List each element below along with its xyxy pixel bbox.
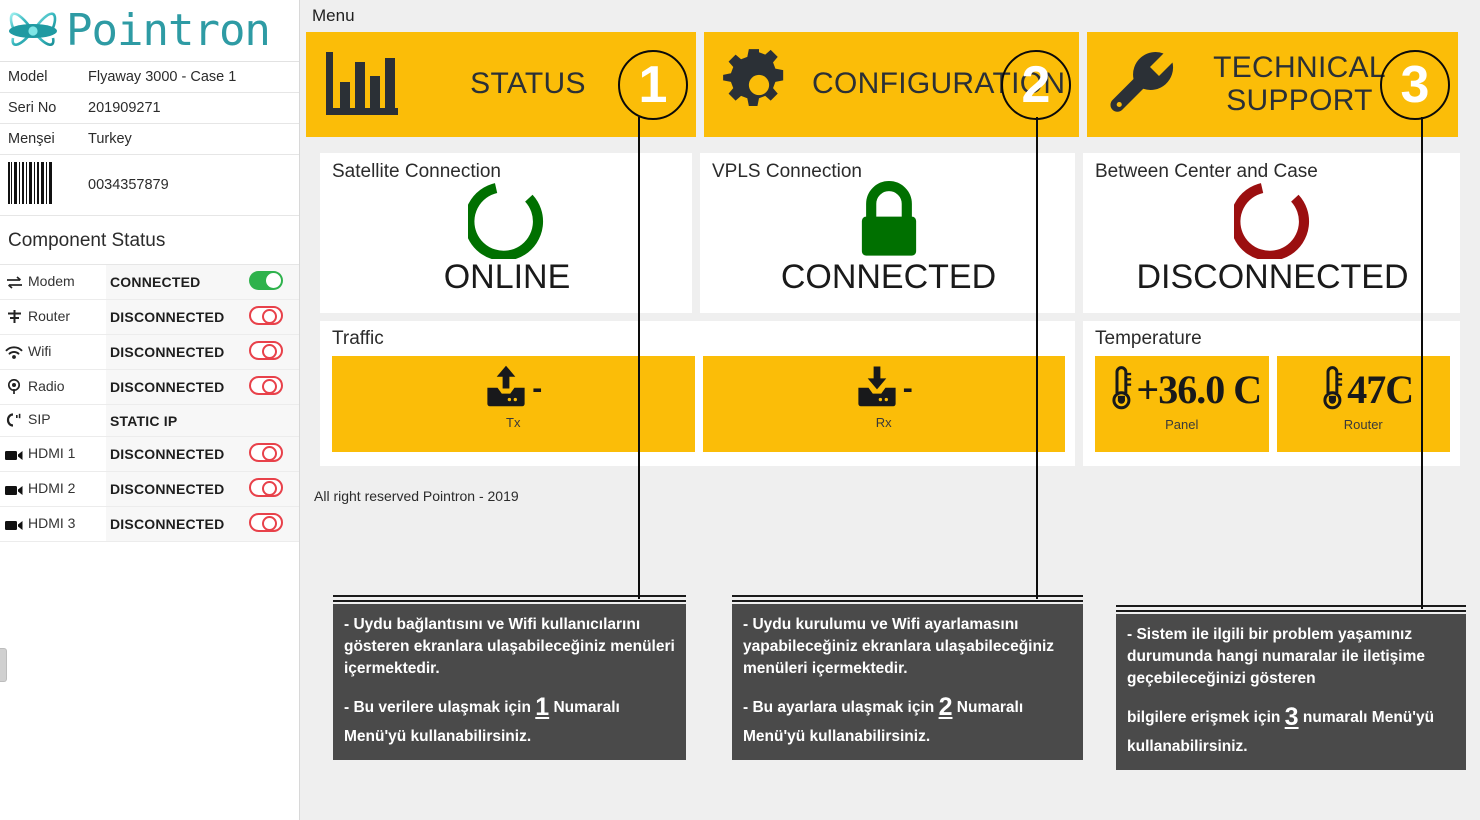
- lower-panels: Traffic -: [300, 313, 1480, 466]
- component-label: HDMI 1: [28, 445, 75, 461]
- toggle-switch-off[interactable]: [249, 478, 283, 497]
- callout-text-2: - Bu verilere ulaşmak için 1 Numaralı Me…: [344, 690, 675, 748]
- table-row: Wifi DISCONNECTED: [0, 335, 299, 370]
- component-state: CONNECTED: [106, 265, 245, 300]
- card-title: VPLS Connection: [712, 161, 1065, 183]
- callout-text-2: - Bu ayarlara ulaşmak için 2 Numaralı Me…: [743, 690, 1072, 748]
- tile-label: Router: [1344, 417, 1383, 432]
- card-vpls-connection: VPLS Connection CONNECTED: [700, 153, 1075, 313]
- callout-text-1: - Uydu bağlantısını ve Wifi kullanıcılar…: [344, 614, 675, 680]
- table-row: HDMI 3 DISCONNECTED: [0, 507, 299, 542]
- video-camera-icon: [4, 518, 24, 534]
- tile-label: Rx: [876, 415, 892, 430]
- callout-number: 2: [939, 693, 953, 721]
- component-name-cell: Router: [0, 300, 106, 335]
- table-row: Router DISCONNECTED: [0, 300, 299, 335]
- lock-icon: [854, 181, 924, 264]
- callout-text-1: - Uydu kurulumu ve Wifi ayarlamasını yap…: [743, 614, 1072, 680]
- spec-value: Flyaway 3000 - Case 1: [80, 62, 299, 93]
- component-toggle-empty: [245, 405, 299, 437]
- spec-value: 201909271: [80, 93, 299, 124]
- component-name-cell: HDMI 3: [0, 507, 106, 542]
- callout-number: 3: [1285, 703, 1299, 731]
- circle-notch-icon: [1234, 181, 1312, 264]
- tile-temp-panel: +36.0 C Panel: [1095, 356, 1269, 452]
- callout-number: 1: [535, 693, 549, 721]
- table-row: Menşei Turkey: [0, 124, 299, 155]
- toggle-switch-off[interactable]: [249, 341, 283, 360]
- component-label: HDMI 2: [28, 480, 75, 496]
- app-root: Pointron Model Flyaway 3000 - Case 1 Ser…: [0, 0, 1480, 820]
- wifi-icon: [4, 346, 24, 362]
- component-toggle[interactable]: [245, 472, 299, 507]
- table-row: Modem CONNECTED: [0, 265, 299, 300]
- download-icon: [855, 364, 899, 413]
- component-name-cell: HDMI 2: [0, 472, 106, 507]
- callout-3: - Sistem ile ilgili bir problem yaşamını…: [1116, 605, 1466, 770]
- component-name-cell: Modem: [0, 265, 106, 300]
- menu-badge: 1: [618, 50, 688, 120]
- connection-cards: Satellite Connection ONLINE VPLS Connect…: [300, 137, 1480, 313]
- toggle-switch-off[interactable]: [249, 306, 283, 325]
- toggle-switch-off[interactable]: [249, 443, 283, 462]
- thermometer-icon: [1102, 364, 1132, 415]
- card-satellite-connection: Satellite Connection ONLINE: [320, 153, 692, 313]
- panel-title: Temperature: [1095, 328, 1450, 350]
- tile-label: Panel: [1165, 417, 1198, 432]
- spec-key: Model: [0, 62, 80, 93]
- component-state: DISCONNECTED: [106, 507, 245, 542]
- component-state: DISCONNECTED: [106, 335, 245, 370]
- callout-box: - Sistem ile ilgili bir problem yaşamını…: [1116, 614, 1466, 770]
- component-label: SIP: [28, 411, 51, 427]
- menu-badge: 3: [1380, 50, 1450, 120]
- callout-box: - Uydu kurulumu ve Wifi ayarlamasını yap…: [732, 604, 1083, 760]
- panel-traffic: Traffic -: [320, 321, 1075, 466]
- bar-chart-icon: [322, 46, 414, 124]
- component-status-table: Modem CONNECTED Router DISCONNECTED: [0, 265, 299, 542]
- leader-line-1: [638, 117, 640, 599]
- video-camera-icon: [4, 483, 24, 499]
- tile-value: +36.0 C: [1136, 370, 1261, 410]
- barcode-value: 0034357879: [80, 155, 299, 216]
- component-state: DISCONNECTED: [106, 437, 245, 472]
- table-row: HDMI 1 DISCONNECTED: [0, 437, 299, 472]
- tile-value: -: [903, 374, 913, 404]
- brand-name: Pointron: [66, 9, 270, 53]
- component-label: Modem: [28, 273, 75, 289]
- card-status: CONNECTED: [781, 258, 996, 297]
- device-spec-table: Model Flyaway 3000 - Case 1 Seri No 2019…: [0, 62, 299, 216]
- panel-temperature: Temperature: [1083, 321, 1460, 466]
- component-toggle[interactable]: [245, 370, 299, 405]
- toggle-switch-off[interactable]: [249, 513, 283, 532]
- footer-copyright: All right reserved Pointron - 2019: [300, 466, 1480, 504]
- callout-text-2: bilgilere erişmek için 3 numaralı Menü'y…: [1127, 700, 1455, 758]
- phone-volume-icon: [4, 413, 24, 430]
- table-row: SIP STATIC IP: [0, 405, 299, 437]
- menu-button-technical-support[interactable]: TECHNICAL SUPPORT 3: [1087, 32, 1458, 137]
- component-name-cell: HDMI 1: [0, 437, 106, 472]
- barcode-icon: [0, 155, 80, 216]
- component-status-title: Component Status: [0, 216, 299, 265]
- menu-bar: STATUS 1 CONFIGURATION 2: [300, 32, 1480, 137]
- tile-rx: - Rx: [703, 356, 1066, 452]
- card-between-center-and-case: Between Center and Case DISCONNECTED: [1083, 153, 1460, 313]
- card-status: DISCONNECTED: [1136, 258, 1408, 297]
- leader-line-3: [1421, 117, 1423, 609]
- component-label: HDMI 3: [28, 515, 75, 531]
- exchange-arrows-icon: [4, 276, 24, 292]
- spec-key: Seri No: [0, 93, 80, 124]
- component-state: DISCONNECTED: [106, 370, 245, 405]
- component-toggle[interactable]: [245, 437, 299, 472]
- callout-cap: [1116, 605, 1466, 612]
- callout-box: - Uydu bağlantısını ve Wifi kullanıcılar…: [333, 604, 686, 760]
- component-state: DISCONNECTED: [106, 300, 245, 335]
- menu-label: Menu: [300, 0, 1480, 32]
- card-title: Satellite Connection: [332, 161, 682, 183]
- brand-logo: Pointron: [0, 0, 299, 62]
- panel-title: Traffic: [332, 328, 1065, 350]
- table-row: Radio DISCONNECTED: [0, 370, 299, 405]
- thermometer-icon: [1313, 364, 1343, 415]
- component-state: DISCONNECTED: [106, 472, 245, 507]
- leader-line-2: [1036, 117, 1038, 599]
- component-label: Router: [28, 308, 70, 324]
- component-name-cell: Wifi: [0, 335, 106, 370]
- menu-badge: 2: [1001, 50, 1071, 120]
- component-toggle[interactable]: [245, 300, 299, 335]
- component-name-cell: Radio: [0, 370, 106, 405]
- tile-temp-router: 47C Router: [1277, 356, 1451, 452]
- callout-cap: [333, 595, 686, 602]
- sidebar: Pointron Model Flyaway 3000 - Case 1 Ser…: [0, 0, 300, 820]
- table-row: HDMI 2 DISCONNECTED: [0, 472, 299, 507]
- callout-2: - Uydu kurulumu ve Wifi ayarlamasını yap…: [732, 595, 1083, 760]
- table-row: 0034357879: [0, 155, 299, 216]
- component-name-cell: SIP: [0, 405, 106, 437]
- tile-value: -: [532, 374, 542, 404]
- callout-text-1: - Sistem ile ilgili bir problem yaşamını…: [1127, 624, 1455, 690]
- table-row: Model Flyaway 3000 - Case 1: [0, 62, 299, 93]
- tile-tx: - Tx: [332, 356, 695, 452]
- video-camera-icon: [4, 448, 24, 464]
- callout-cap: [732, 595, 1083, 602]
- component-label: Radio: [28, 378, 65, 394]
- component-toggle[interactable]: [245, 265, 299, 300]
- toggle-switch-on[interactable]: [249, 271, 283, 290]
- card-status: ONLINE: [444, 258, 571, 297]
- tile-label: Tx: [506, 415, 520, 430]
- component-toggle[interactable]: [245, 507, 299, 542]
- spec-key: Menşei: [0, 124, 80, 155]
- spec-value: Turkey: [80, 124, 299, 155]
- circle-notch-icon: [468, 181, 546, 264]
- wrench-icon: [1103, 49, 1195, 121]
- toggle-switch-off[interactable]: [249, 376, 283, 395]
- menu-button-configuration[interactable]: CONFIGURATION 2: [704, 32, 1079, 137]
- component-toggle[interactable]: [245, 335, 299, 370]
- broadcast-tower-icon: [4, 379, 24, 397]
- main-content: Menu STATUS 1: [300, 0, 1480, 820]
- butterfly-orbit-logo-icon: [2, 5, 64, 57]
- callout-1: - Uydu bağlantısını ve Wifi kullanıcılar…: [333, 595, 686, 760]
- table-row: Seri No 201909271: [0, 93, 299, 124]
- upload-icon: [484, 364, 528, 413]
- gear-icon: [720, 46, 812, 124]
- tile-value: 47C: [1347, 370, 1413, 410]
- component-label: Wifi: [28, 343, 51, 359]
- router-icon: [4, 309, 24, 327]
- sidebar-collapse-handle[interactable]: [0, 648, 7, 682]
- card-title: Between Center and Case: [1095, 161, 1450, 183]
- component-state: STATIC IP: [106, 405, 245, 437]
